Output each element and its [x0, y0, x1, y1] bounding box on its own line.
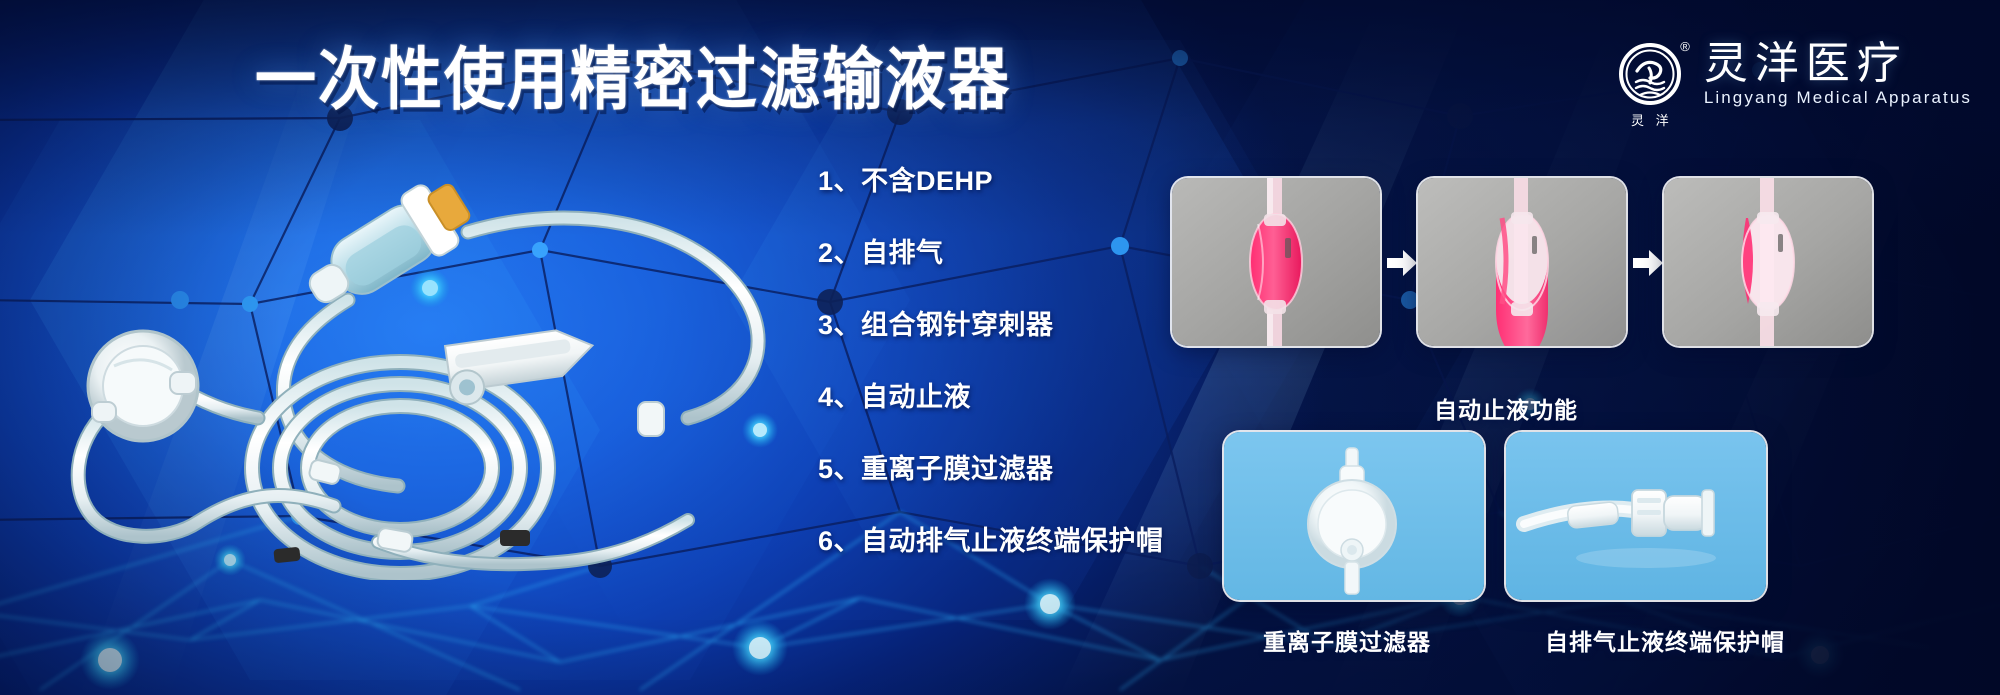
brand-name-cn: 灵洋医疗 [1704, 41, 1972, 87]
lingyang-wave-seal-logo-icon: ® 灵 洋 [1616, 38, 1688, 110]
product-caption: 重离子膜过滤器 [1263, 623, 1431, 657]
auto-stop-caption: 自动止液功能 [1434, 391, 1578, 425]
feature-list: 1、不含DEHP 2、自排气 3、组合钢针穿刺器 4、自动止液 5、重离子膜过滤… [818, 168, 1164, 555]
registered-trademark-icon: ® [1680, 40, 1690, 53]
brand-name-en: Lingyang Medical Apparatus [1704, 89, 1972, 108]
logo-caption: 灵 洋 [1616, 110, 1688, 129]
feature-item: 5、重离子膜过滤器 [818, 456, 1164, 483]
right-arrow-icon [1385, 248, 1419, 278]
self-venting-stop-terminal-protective-cap-photo [1506, 432, 1766, 600]
feature-item: 4、自动止液 [818, 384, 1164, 411]
feature-item: 3、组合钢针穿刺器 [818, 312, 1164, 339]
iv-infusion-set-with-precision-filter-photo [48, 150, 768, 580]
product-banner: 一次性使用精密过滤输液器 ® 灵 洋 灵洋医疗 Lingyang Medical… [0, 0, 2000, 695]
feature-item: 1、不含DEHP [818, 168, 1164, 195]
feature-item: 2、自排气 [818, 240, 1164, 267]
auto-stop-step-3-stopped-chamber [1664, 178, 1872, 346]
brand-lockup: ® 灵 洋 灵洋医疗 Lingyang Medical Apparatus [1616, 38, 1972, 110]
right-arrow-icon [1631, 248, 1665, 278]
heavy-ion-membrane-filter-photo [1224, 432, 1484, 600]
auto-stop-step-1-full-chamber [1172, 178, 1380, 346]
product-caption: 自排气止液终端保护帽 [1545, 623, 1785, 657]
feature-item: 6、自动排气止液终端保护帽 [818, 528, 1164, 555]
auto-stop-step-2-draining-chamber [1418, 178, 1626, 346]
page-title: 一次性使用精密过滤输液器 [255, 46, 1011, 114]
